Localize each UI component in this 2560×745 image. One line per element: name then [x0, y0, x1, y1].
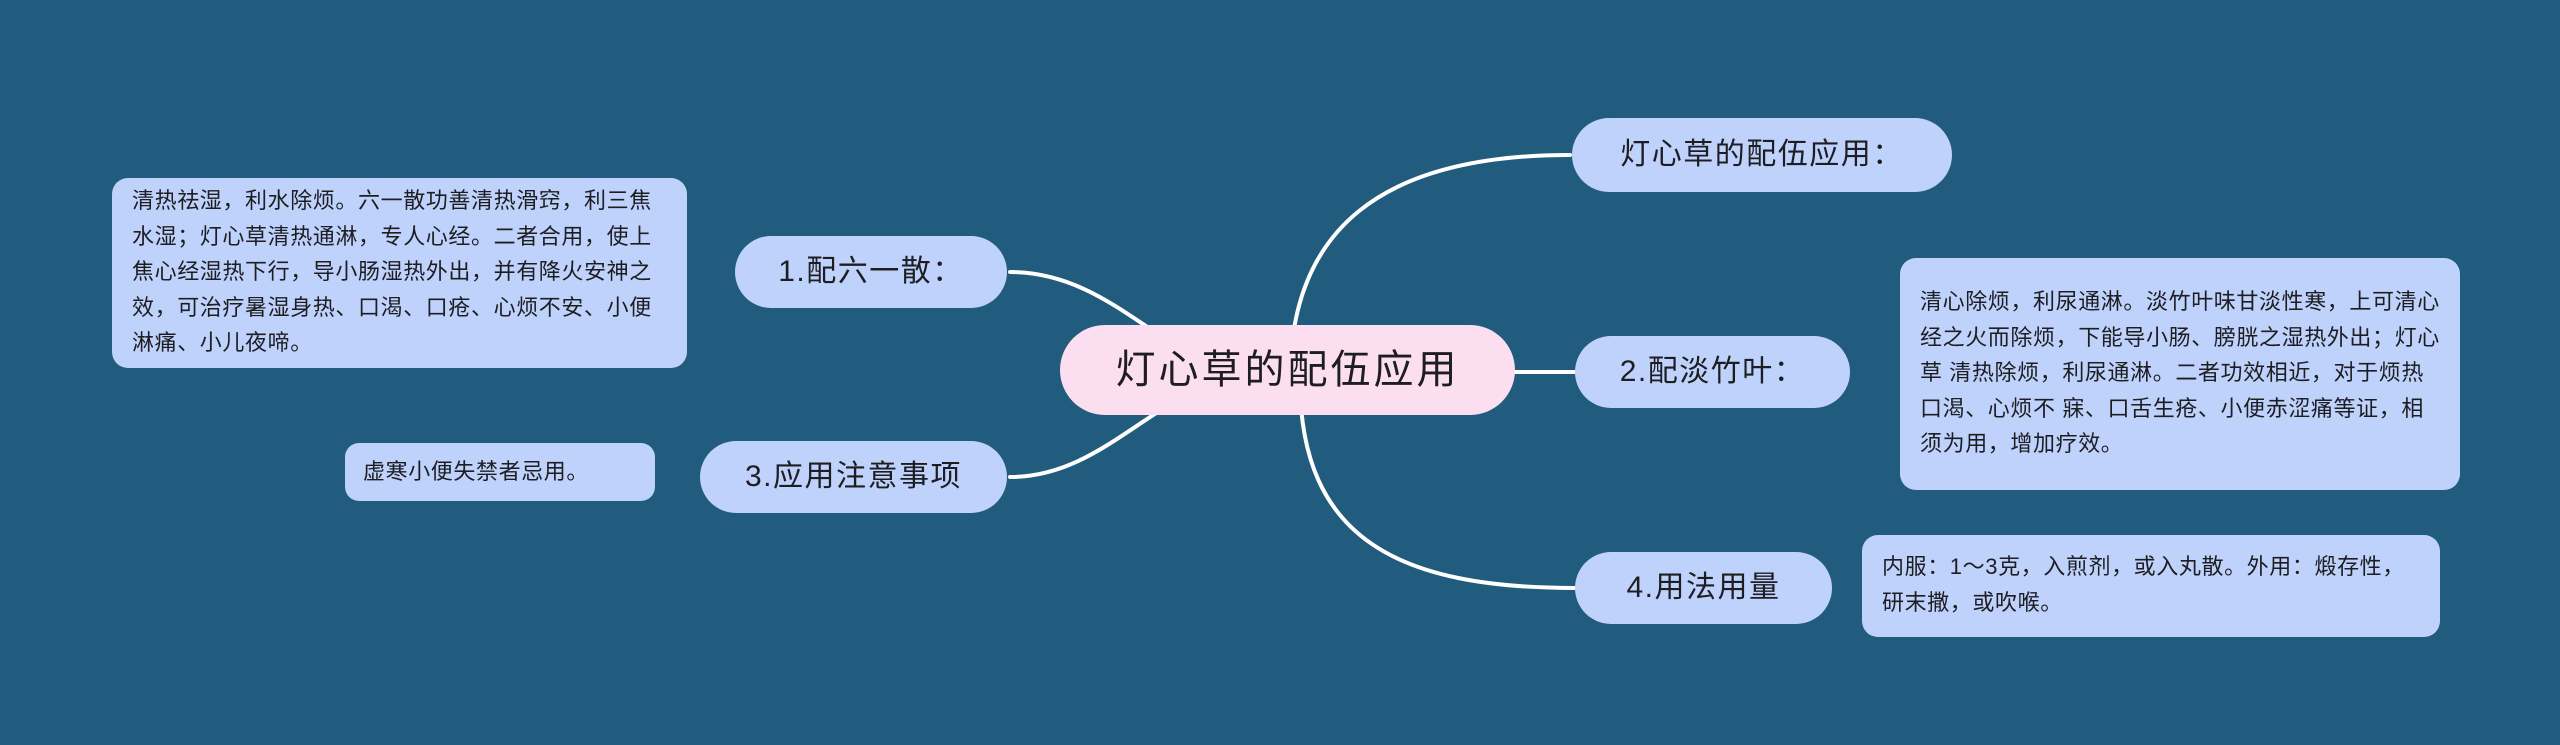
branch-node-zhuyi-label: 3.应用注意事项 [745, 457, 962, 498]
root-node[interactable]: 灯心草的配伍应用 [1060, 325, 1515, 415]
root-node-label: 灯心草的配伍应用 [1116, 343, 1460, 397]
detail-box-zhuyi: 虚寒小便失禁者忌用。 [345, 443, 655, 501]
detail-box-liuyisan-text: 清热祛湿，利水除烦。六一散功善清热滑窍，利三焦水湿；灯心草清热通淋，专人心经。二… [132, 183, 667, 361]
branch-node-yongfa[interactable]: 4.用法用量 [1575, 552, 1832, 624]
branch-node-zhuyi[interactable]: 3.应用注意事项 [700, 441, 1007, 513]
branch-node-heading[interactable]: 灯心草的配伍应用： [1572, 118, 1952, 192]
branch-node-danzhuye[interactable]: 2.配淡竹叶： [1575, 336, 1850, 408]
branch-node-yongfa-label: 4.用法用量 [1626, 568, 1780, 609]
detail-box-zhuyi-text: 虚寒小便失禁者忌用。 [363, 454, 637, 490]
mindmap-canvas: 灯心草的配伍应用 灯心草的配伍应用： 1.配六一散： 清热祛湿，利水除烦。六一散… [0, 0, 2560, 745]
detail-box-yongfa: 内服：1～3克，入煎剂，或入丸散。外用：煅存性，研末撒，或吹喉。 [1862, 535, 2440, 637]
branch-node-danzhuye-label: 2.配淡竹叶： [1620, 352, 1806, 393]
detail-box-liuyisan: 清热祛湿，利水除烦。六一散功善清热滑窍，利三焦水湿；灯心草清热通淋，专人心经。二… [112, 178, 687, 368]
detail-box-yongfa-text: 内服：1～3克，入煎剂，或入丸散。外用：煅存性，研末撒，或吹喉。 [1882, 549, 2420, 620]
branch-node-heading-label: 灯心草的配伍应用： [1620, 135, 1904, 176]
detail-box-danzhuye-text: 清心除烦，利尿通淋。淡竹叶味甘淡性寒，上可清心经之火而除烦，下能导小肠、膀胱之湿… [1920, 284, 2440, 462]
detail-box-danzhuye: 清心除烦，利尿通淋。淡竹叶味甘淡性寒，上可清心经之火而除烦，下能导小肠、膀胱之湿… [1900, 258, 2460, 490]
branch-node-liuyisan-label: 1.配六一散： [778, 252, 964, 293]
branch-node-liuyisan[interactable]: 1.配六一散： [735, 236, 1007, 308]
